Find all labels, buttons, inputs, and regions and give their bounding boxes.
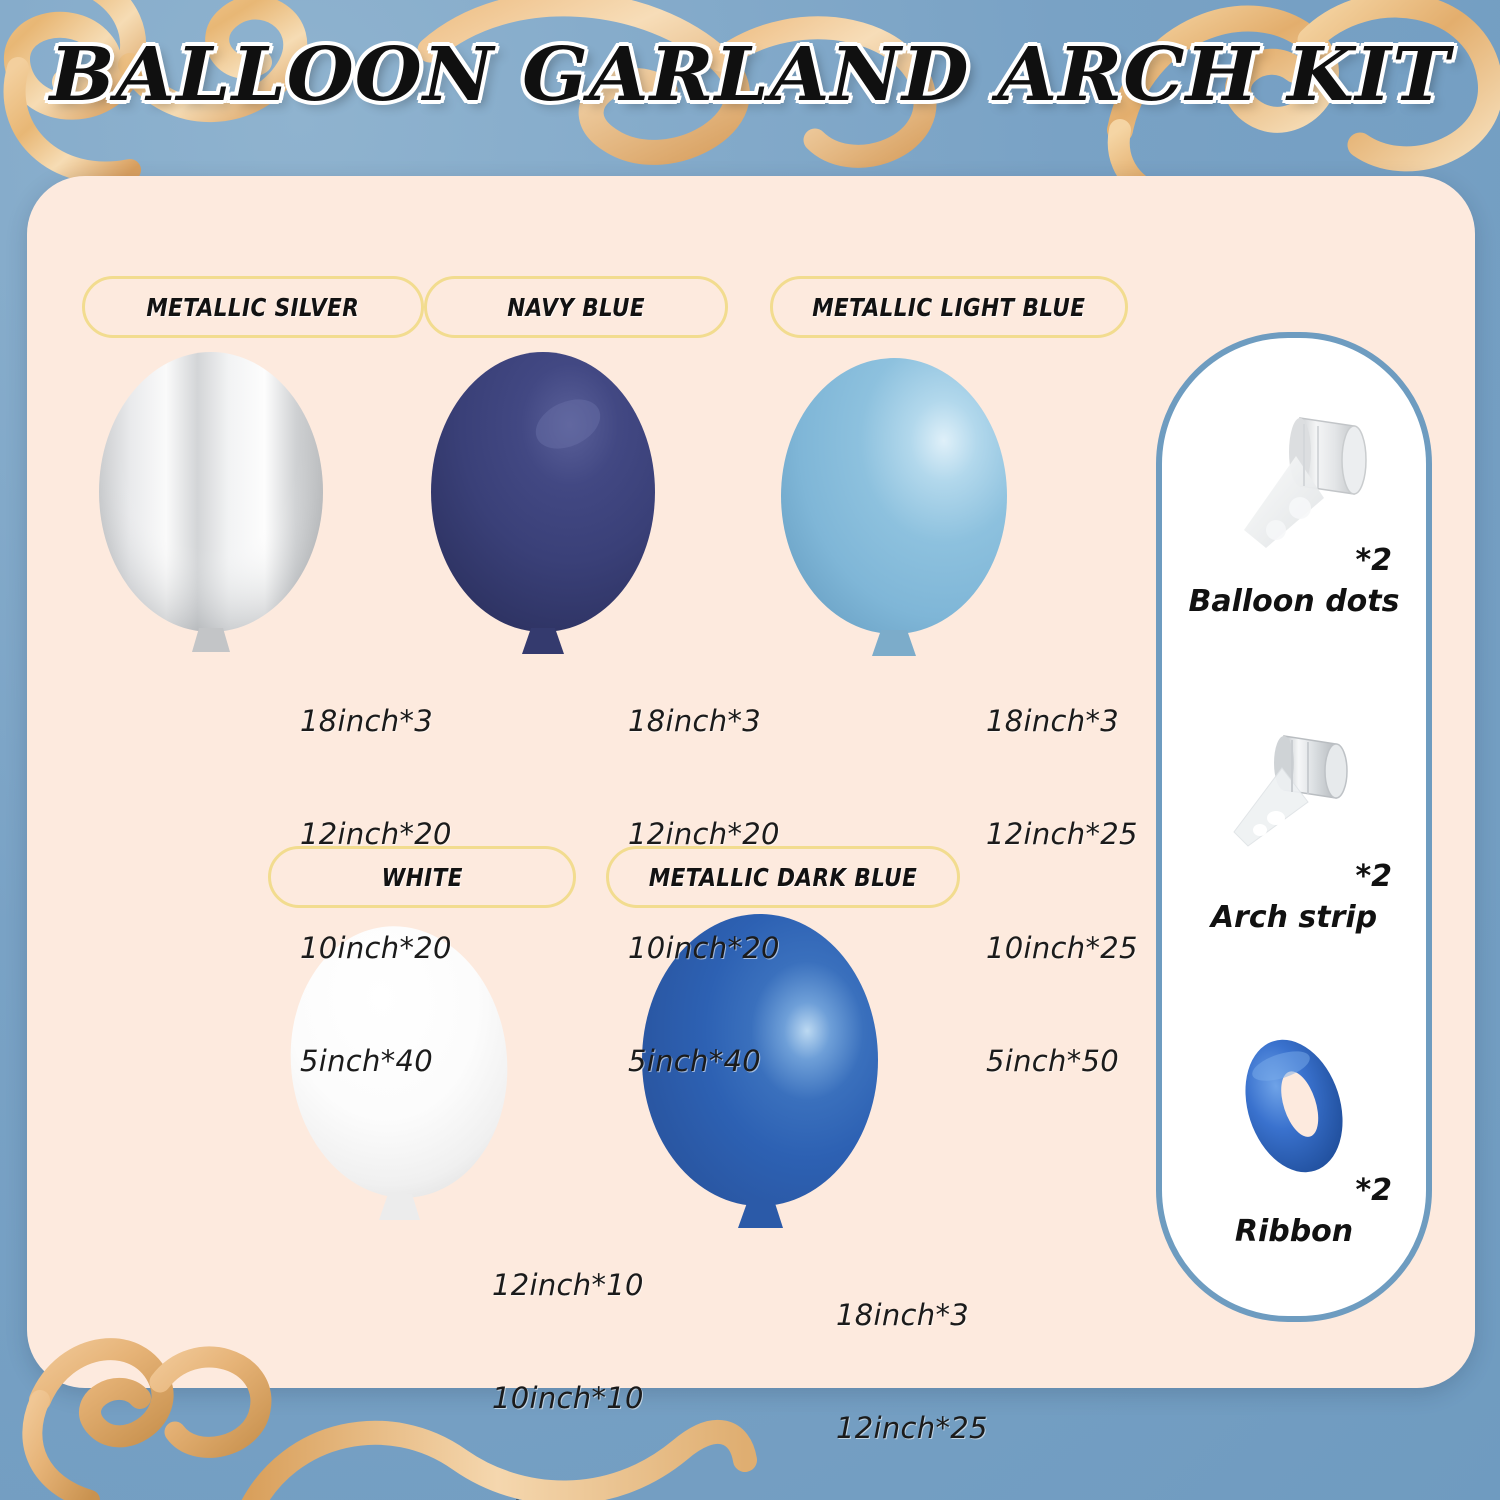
glue-dot-roll-icon: *2 [1162, 390, 1426, 580]
accessories-panel: *2 Balloon dots [1156, 332, 1432, 1322]
label-navy-blue: NAVY BLUE [424, 276, 728, 338]
arch-tape-roll-icon: *2 [1162, 706, 1426, 896]
label-metallic-silver: METALLIC SILVER [82, 276, 424, 338]
spec-metallic-silver: 18inch*3 12inch*20 10inch*20 5inch*40 [300, 628, 452, 1156]
label-text: NAVY BLUE [507, 293, 645, 322]
accessory-name: Ribbon [1162, 1214, 1426, 1249]
spec-line: 18inch*3 [986, 703, 1138, 741]
spec-line: 10inch*10 [492, 1380, 644, 1418]
spec-line: 5inch*40 [628, 1043, 780, 1081]
spec-line: 10inch*20 [300, 930, 452, 968]
spec-line: 12inch*20 [628, 816, 780, 854]
accessory-balloon-dots: *2 Balloon dots [1162, 390, 1426, 619]
accessory-qty: *2 [1355, 543, 1392, 578]
spec-line: 10inch*20 [628, 930, 780, 968]
label-text: METALLIC LIGHT BLUE [812, 293, 1085, 322]
product-infographic: BALLOON GARLAND ARCH KIT [0, 0, 1500, 1500]
balloon-navy-blue [428, 352, 658, 672]
spec-line: 5inch*20 [492, 1494, 644, 1500]
page-title: BALLOON GARLAND ARCH KIT [0, 32, 1500, 118]
spec-metallic-light-blue: 18inch*3 12inch*25 10inch*25 5inch*50 [986, 628, 1138, 1156]
spec-metallic-dark-blue: 18inch*3 12inch*25 10inch*25 5inch*50 [836, 1222, 988, 1500]
accessory-arch-strip: *2 Arch strip [1162, 706, 1426, 935]
spec-line: 18inch*3 [628, 703, 780, 741]
spec-line: 5inch*50 [986, 1043, 1138, 1081]
spec-line: 12inch*25 [986, 816, 1138, 854]
spec-line: 12inch*25 [836, 1410, 988, 1448]
spec-line: 12inch*20 [300, 816, 452, 854]
accessory-qty: *2 [1355, 859, 1392, 894]
ribbon-spool-icon: *2 [1162, 1020, 1426, 1210]
balloon-metallic-silver [96, 352, 326, 672]
spec-white: 12inch*10 10inch*10 5inch*20 [492, 1192, 644, 1500]
balloon-metallic-light-blue [778, 358, 1014, 670]
spec-line: 5inch*40 [300, 1043, 452, 1081]
label-metallic-light-blue: METALLIC LIGHT BLUE [770, 276, 1128, 338]
accessory-ribbon: *2 Ribbon [1162, 1020, 1426, 1249]
accessory-qty: *2 [1355, 1173, 1392, 1208]
spec-line: 18inch*3 [836, 1297, 988, 1335]
accessory-name: Balloon dots [1162, 584, 1426, 619]
accessory-name: Arch strip [1162, 900, 1426, 935]
label-text: METALLIC SILVER [147, 293, 360, 322]
spec-navy-blue: 18inch*3 12inch*20 10inch*20 5inch*40 [628, 628, 780, 1156]
spec-line: 12inch*10 [492, 1267, 644, 1305]
spec-line: 10inch*25 [986, 930, 1138, 968]
spec-line: 18inch*3 [300, 703, 452, 741]
